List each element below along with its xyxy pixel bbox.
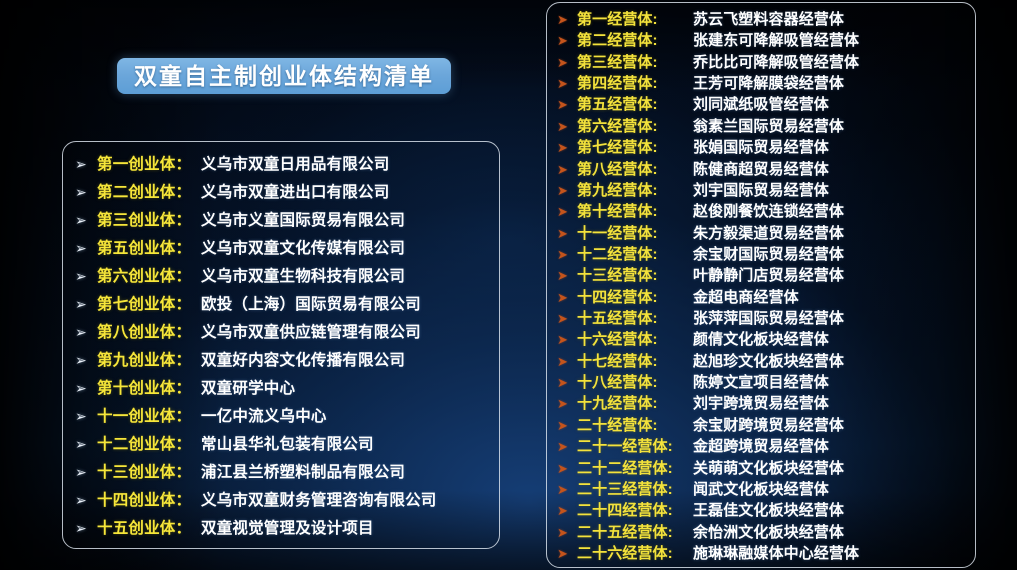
startup-entity-row: ➢第一创业体：义乌市双童日用品有限公司 [63,152,499,174]
operating-entity-label: 二十二经营体: [577,457,693,478]
operating-entity-row: ➤二十四经营体:王磊佳文化板块经营体 [547,499,975,520]
startup-entity-label: 第三创业体： [97,208,201,230]
operating-entity-label: 二十一经营体: [577,435,693,456]
startup-entity-value: 双童好内容文化传播有限公司 [201,348,405,370]
operating-entity-row: ➤第十经营体:赵俊刚餐饮连锁经营体 [547,200,975,221]
operating-entity-value: 陈健商超贸易经营体 [693,158,829,179]
startup-entity-row: ➢十二创业体：常山县华礼包装有限公司 [63,432,499,454]
startup-entity-row: ➢十五创业体：双童视觉管理及设计项目 [63,516,499,538]
startup-entity-row: ➢十一创业体：一亿中流义乌中心 [63,404,499,426]
arrow-bullet-icon: ➢ [75,297,97,311]
operating-entity-label: 十三经营体: [577,264,693,285]
operating-entity-row: ➤十九经营体:刘宇跨境贸易经营体 [547,392,975,413]
operating-entity-value: 赵俊刚餐饮连锁经营体 [693,200,844,221]
arrow-bullet-icon: ➤ [557,397,577,410]
startup-entity-label: 十一创业体： [97,404,201,426]
operating-entity-value: 刘同斌纸吸管经营体 [693,93,829,114]
startup-entities-list: ➢第一创业体：义乌市双童日用品有限公司➢第二创业体：义乌市双童进出口有限公司➢第… [63,152,499,538]
operating-entity-row: ➤第二经营体:张建东可降解吸管经营体 [547,29,975,50]
startup-entity-row: ➢第三创业体：义乌市义童国际贸易有限公司 [63,208,499,230]
arrow-bullet-icon: ➤ [557,77,577,90]
arrow-bullet-icon: ➤ [557,440,577,453]
startup-entity-value: 义乌市双童文化传媒有限公司 [201,236,405,258]
operating-entity-value: 苏云飞塑料容器经营体 [693,8,844,29]
startup-entity-label: 第一创业体： [97,152,201,174]
startup-entity-row: ➢第八创业体：义乌市双童供应链管理有限公司 [63,320,499,342]
arrow-bullet-icon: ➤ [557,312,577,325]
startup-entity-label: 第十创业体： [97,376,201,398]
operating-entity-row: ➤第七经营体:张娟国际贸易经营体 [547,136,975,157]
arrow-bullet-icon: ➤ [557,419,577,432]
operating-entity-label: 第一经营体: [577,8,693,29]
startup-entity-label: 第六创业体： [97,264,201,286]
operating-entity-label: 第三经营体: [577,51,693,72]
arrow-bullet-icon: ➤ [557,98,577,111]
arrow-bullet-icon: ➤ [557,355,577,368]
startup-entity-row: ➢第二创业体：义乌市双童进出口有限公司 [63,180,499,202]
arrow-bullet-icon: ➤ [557,248,577,261]
operating-entity-value: 闻武文化板块经营体 [693,478,829,499]
operating-entity-label: 十一经营体: [577,222,693,243]
operating-entity-label: 第八经营体: [577,158,693,179]
operating-entity-label: 第七经营体: [577,136,693,157]
arrow-bullet-icon: ➢ [75,381,97,395]
operating-entity-row: ➤第五经营体:刘同斌纸吸管经营体 [547,93,975,114]
operating-entity-label: 二十三经营体: [577,478,693,499]
startup-entity-row: ➢第六创业体：义乌市双童生物科技有限公司 [63,264,499,286]
operating-entity-row: ➤十一经营体:朱方毅渠道贸易经营体 [547,222,975,243]
operating-entity-value: 王芳可降解膜袋经营体 [693,72,844,93]
arrow-bullet-icon: ➤ [557,376,577,389]
operating-entity-row: ➤第一经营体:苏云飞塑料容器经营体 [547,8,975,29]
arrow-bullet-icon: ➢ [75,437,97,451]
startup-entity-label: 十二创业体： [97,432,201,454]
arrow-bullet-icon: ➢ [75,409,97,423]
operating-entity-label: 十八经营体: [577,371,693,392]
operating-entity-row: ➤第八经营体:陈健商超贸易经营体 [547,158,975,179]
arrow-bullet-icon: ➤ [557,205,577,218]
startup-entity-value: 义乌市双童财务管理咨询有限公司 [201,488,437,510]
arrow-bullet-icon: ➤ [557,504,577,517]
operating-entity-row: ➤第六经营体:翁素兰国际贸易经营体 [547,115,975,136]
startup-entity-value: 欧投（上海）国际贸易有限公司 [201,292,421,314]
operating-entity-row: ➤十八经营体:陈婷文宣项目经营体 [547,371,975,392]
arrow-bullet-icon: ➢ [75,185,97,199]
operating-entity-row: ➤十二经营体:余宝财国际贸易经营体 [547,243,975,264]
operating-entity-value: 颜倩文化板块经营体 [693,328,829,349]
arrow-bullet-icon: ➤ [557,291,577,304]
startup-entity-label: 十三创业体： [97,460,201,482]
operating-entity-row: ➤第九经营体:刘宇国际贸易经营体 [547,179,975,200]
operating-entity-row: ➤十六经营体:颜倩文化板块经营体 [547,328,975,349]
arrow-bullet-icon: ➤ [557,163,577,176]
arrow-bullet-icon: ➢ [75,493,97,507]
operating-entity-label: 十七经营体: [577,350,693,371]
arrow-bullet-icon: ➤ [557,227,577,240]
operating-entity-row: ➤二十五经营体:余怡洲文化板块经营体 [547,521,975,542]
operating-entity-row: ➤二十二经营体:关萌萌文化板块经营体 [547,457,975,478]
operating-entity-row: ➤十三经营体:叶静静门店贸易经营体 [547,264,975,285]
operating-entity-label: 第四经营体: [577,72,693,93]
startup-entity-value: 义乌市双童供应链管理有限公司 [201,320,421,342]
startup-entity-row: ➢第七创业体：欧投（上海）国际贸易有限公司 [63,292,499,314]
startup-entities-panel: ➢第一创业体：义乌市双童日用品有限公司➢第二创业体：义乌市双童进出口有限公司➢第… [62,141,500,549]
startup-entity-row: ➢第五创业体：义乌市双童文化传媒有限公司 [63,236,499,258]
startup-entity-label: 第八创业体： [97,320,201,342]
operating-entity-value: 乔比比可降解吸管经营体 [693,51,859,72]
operating-entity-value: 张建东可降解吸管经营体 [693,29,859,50]
arrow-bullet-icon: ➤ [557,526,577,539]
startup-entity-label: 第七创业体： [97,292,201,314]
arrow-bullet-icon: ➢ [75,353,97,367]
startup-entity-row: ➢第十创业体：双童研学中心 [63,376,499,398]
startup-entity-value: 浦江县兰桥塑料制品有限公司 [201,460,405,482]
startup-entity-label: 第九创业体： [97,348,201,370]
arrow-bullet-icon: ➤ [557,547,577,560]
operating-entity-value: 赵旭珍文化板块经营体 [693,350,844,371]
operating-entity-value: 余怡洲文化板块经营体 [693,521,844,542]
operating-entity-row: ➤十四经营体:金超电商经营体 [547,286,975,307]
startup-entity-value: 常山县华礼包装有限公司 [201,432,374,454]
arrow-bullet-icon: ➤ [557,269,577,282]
startup-entity-value: 义乌市双童生物科技有限公司 [201,264,405,286]
operating-entity-row: ➤二十三经营体:闻武文化板块经营体 [547,478,975,499]
startup-entity-label: 第二创业体： [97,180,201,202]
operating-entities-list: ➤第一经营体:苏云飞塑料容器经营体➤第二经营体:张建东可降解吸管经营体➤第三经营… [547,8,975,563]
operating-entity-row: ➤十七经营体:赵旭珍文化板块经营体 [547,350,975,371]
operating-entity-value: 翁素兰国际贸易经营体 [693,115,844,136]
startup-entity-value: 义乌市义童国际贸易有限公司 [201,208,405,230]
arrow-bullet-icon: ➢ [75,325,97,339]
arrow-bullet-icon: ➢ [75,241,97,255]
operating-entity-label: 十二经营体: [577,243,693,264]
operating-entity-value: 余宝财国际贸易经营体 [693,243,844,264]
arrow-bullet-icon: ➤ [557,120,577,133]
startup-entity-row: ➢第九创业体：双童好内容文化传播有限公司 [63,348,499,370]
arrow-bullet-icon: ➤ [557,141,577,154]
arrow-bullet-icon: ➢ [75,521,97,535]
operating-entity-label: 第九经营体: [577,179,693,200]
operating-entity-value: 陈婷文宣项目经营体 [693,371,829,392]
operating-entity-label: 二十六经营体: [577,542,693,563]
arrow-bullet-icon: ➤ [557,13,577,26]
startup-entity-label: 第五创业体： [97,236,201,258]
operating-entity-row: ➤第四经营体:王芳可降解膜袋经营体 [547,72,975,93]
page-title-text: 双童自主制创业体结构清单 [134,65,434,88]
arrow-bullet-icon: ➢ [75,213,97,227]
operating-entity-value: 关萌萌文化板块经营体 [693,457,844,478]
operating-entity-value: 金超电商经营体 [693,286,799,307]
arrow-bullet-icon: ➢ [75,157,97,171]
operating-entity-label: 十六经营体: [577,328,693,349]
operating-entity-row: ➤二十经营体:余宝财跨境贸易经营体 [547,414,975,435]
startup-entity-value: 义乌市双童进出口有限公司 [201,180,389,202]
arrow-bullet-icon: ➤ [557,184,577,197]
operating-entity-value: 施琳琳融媒体中心经营体 [693,542,859,563]
slide-canvas: 双童自主制创业体结构清单 ➢第一创业体：义乌市双童日用品有限公司➢第二创业体：义… [0,0,1017,570]
operating-entity-label: 十五经营体: [577,307,693,328]
startup-entity-label: 十四创业体： [97,488,201,510]
page-title: 双童自主制创业体结构清单 [117,58,451,94]
operating-entity-label: 二十四经营体: [577,499,693,520]
operating-entity-label: 第六经营体: [577,115,693,136]
operating-entity-row: ➤第三经营体:乔比比可降解吸管经营体 [547,51,975,72]
startup-entity-label: 十五创业体： [97,516,201,538]
arrow-bullet-icon: ➤ [557,34,577,47]
operating-entity-row: ➤十五经营体:张萍萍国际贸易经营体 [547,307,975,328]
startup-entity-value: 双童视觉管理及设计项目 [201,516,374,538]
startup-entity-value: 一亿中流义乌中心 [201,404,327,426]
startup-entity-value: 双童研学中心 [201,376,295,398]
arrow-bullet-icon: ➤ [557,483,577,496]
operating-entity-value: 张娟国际贸易经营体 [693,136,829,157]
startup-entity-value: 义乌市双童日用品有限公司 [201,152,389,174]
operating-entities-panel: ➤第一经营体:苏云飞塑料容器经营体➤第二经营体:张建东可降解吸管经营体➤第三经营… [546,2,976,568]
operating-entity-value: 张萍萍国际贸易经营体 [693,307,844,328]
operating-entity-value: 叶静静门店贸易经营体 [693,264,844,285]
arrow-bullet-icon: ➤ [557,56,577,69]
operating-entity-label: 二十五经营体: [577,521,693,542]
operating-entity-value: 朱方毅渠道贸易经营体 [693,222,844,243]
startup-entity-row: ➢十三创业体：浦江县兰桥塑料制品有限公司 [63,460,499,482]
operating-entity-value: 王磊佳文化板块经营体 [693,499,844,520]
operating-entity-value: 刘宇国际贸易经营体 [693,179,829,200]
startup-entity-row: ➢十四创业体：义乌市双童财务管理咨询有限公司 [63,488,499,510]
operating-entity-row: ➤二十六经营体:施琳琳融媒体中心经营体 [547,542,975,563]
arrow-bullet-icon: ➢ [75,269,97,283]
arrow-bullet-icon: ➢ [75,465,97,479]
operating-entity-label: 第十经营体: [577,200,693,221]
operating-entity-row: ➤二十一经营体:金超跨境贸易经营体 [547,435,975,456]
operating-entity-value: 刘宇跨境贸易经营体 [693,392,829,413]
operating-entity-label: 十九经营体: [577,392,693,413]
arrow-bullet-icon: ➤ [557,333,577,346]
operating-entity-label: 第五经营体: [577,93,693,114]
operating-entity-label: 二十经营体: [577,414,693,435]
operating-entity-value: 余宝财跨境贸易经营体 [693,414,844,435]
arrow-bullet-icon: ➤ [557,462,577,475]
operating-entity-label: 十四经营体: [577,286,693,307]
operating-entity-label: 第二经营体: [577,29,693,50]
operating-entity-value: 金超跨境贸易经营体 [693,435,829,456]
